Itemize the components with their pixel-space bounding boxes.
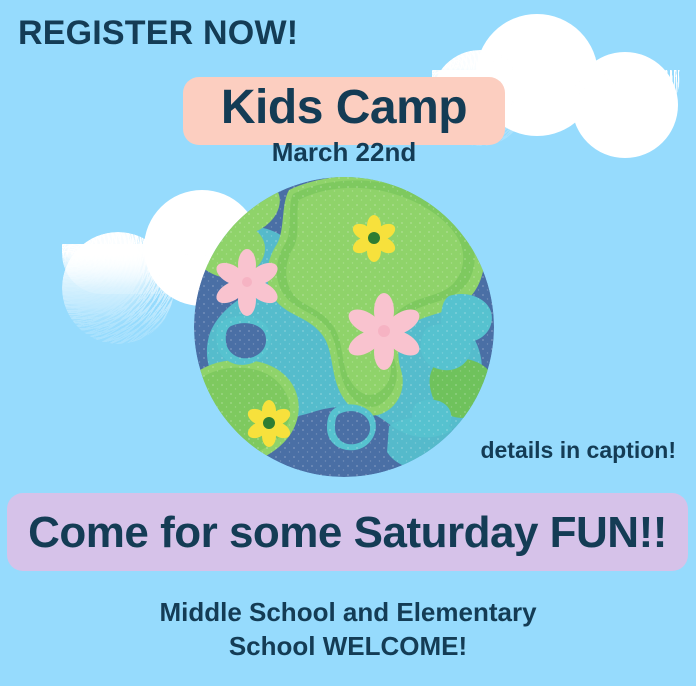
poster-canvas: REGISTER NOW! Kids Camp March 22nd (0, 0, 696, 686)
welcome-line-1: Middle School and Elementary (0, 595, 696, 629)
details-caption: details in caption! (480, 437, 676, 464)
welcome-footer: Middle School and Elementary School WELC… (0, 595, 696, 663)
register-now-headline: REGISTER NOW! (18, 14, 298, 53)
fun-banner-text: Come for some Saturday FUN!! (7, 508, 688, 558)
earth-globe-icon (193, 176, 495, 478)
page-title: Kids Camp (183, 80, 505, 135)
camp-date: March 22nd (183, 137, 505, 168)
welcome-line-2: School WELCOME! (0, 629, 696, 663)
